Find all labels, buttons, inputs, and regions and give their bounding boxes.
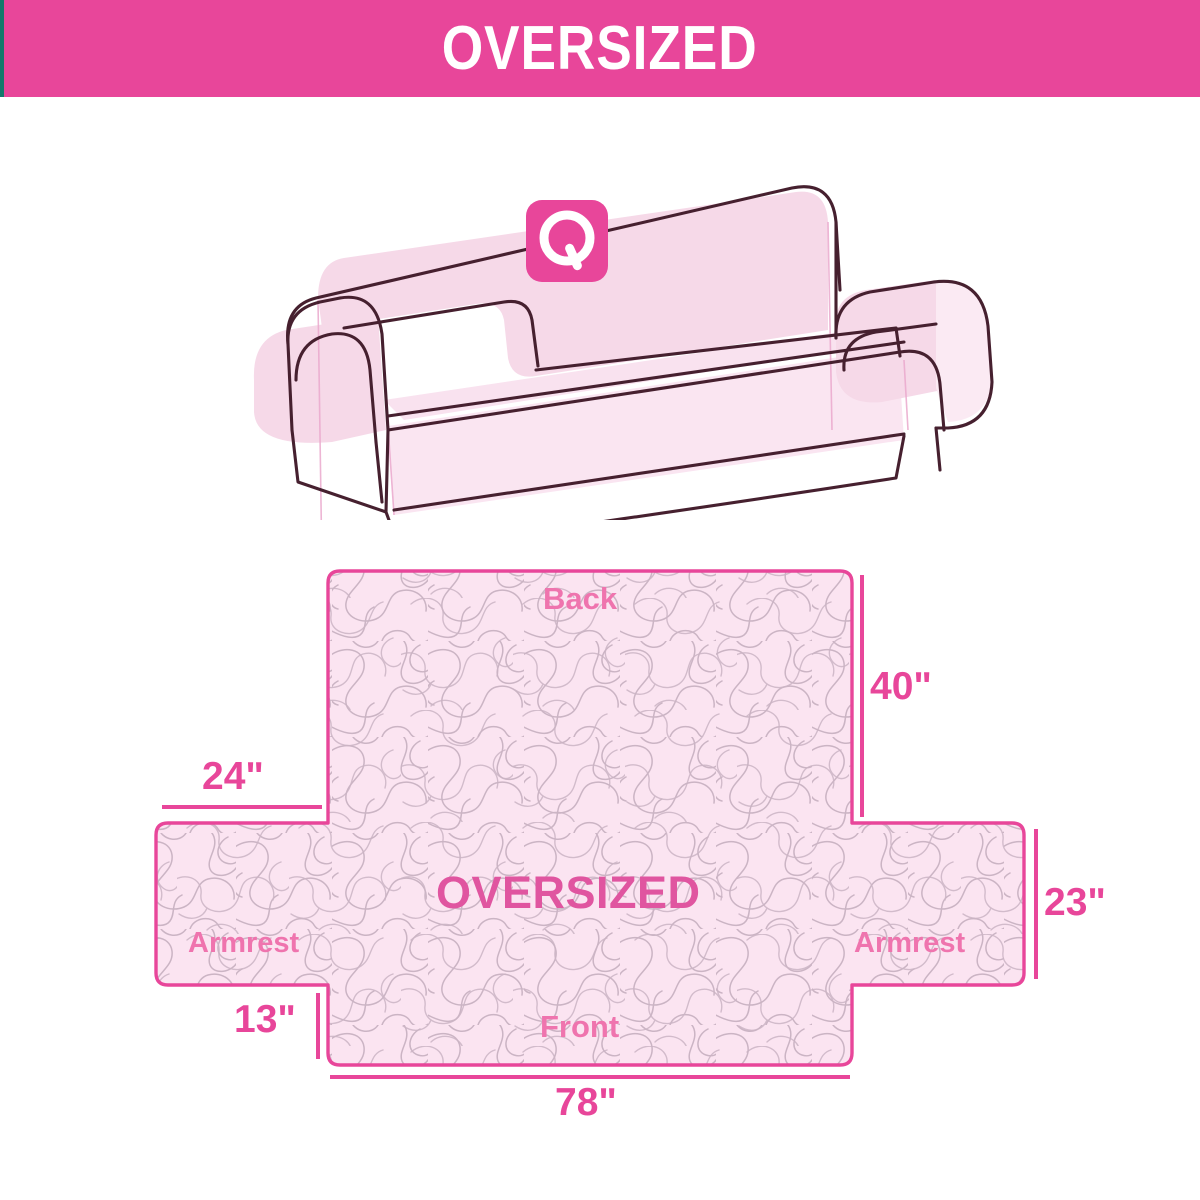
dimension-label-23: 23" <box>1044 883 1106 922</box>
panel-label-front: Front <box>540 1011 619 1042</box>
dimension-label-78: 78" <box>555 1083 617 1122</box>
flatlay-diagram: Back Armrest Armrest Front OVERSIZED 40"… <box>140 545 1100 1125</box>
header-banner: OVERSIZED <box>0 0 1200 97</box>
q-logo-badge <box>526 200 608 282</box>
dimension-label-13: 13" <box>234 1000 296 1039</box>
panel-label-back: Back <box>543 583 617 614</box>
dimension-label-24: 24" <box>202 757 264 796</box>
panel-label-armrest-left: Armrest <box>188 929 299 958</box>
page-title: OVERSIZED <box>442 18 758 80</box>
diagram-center-label: OVERSIZED <box>436 870 701 915</box>
header-accent-strip <box>0 0 4 97</box>
sofa-illustration <box>236 130 996 520</box>
dimension-label-40: 40" <box>870 667 932 706</box>
panel-label-armrest-right: Armrest <box>854 929 965 958</box>
